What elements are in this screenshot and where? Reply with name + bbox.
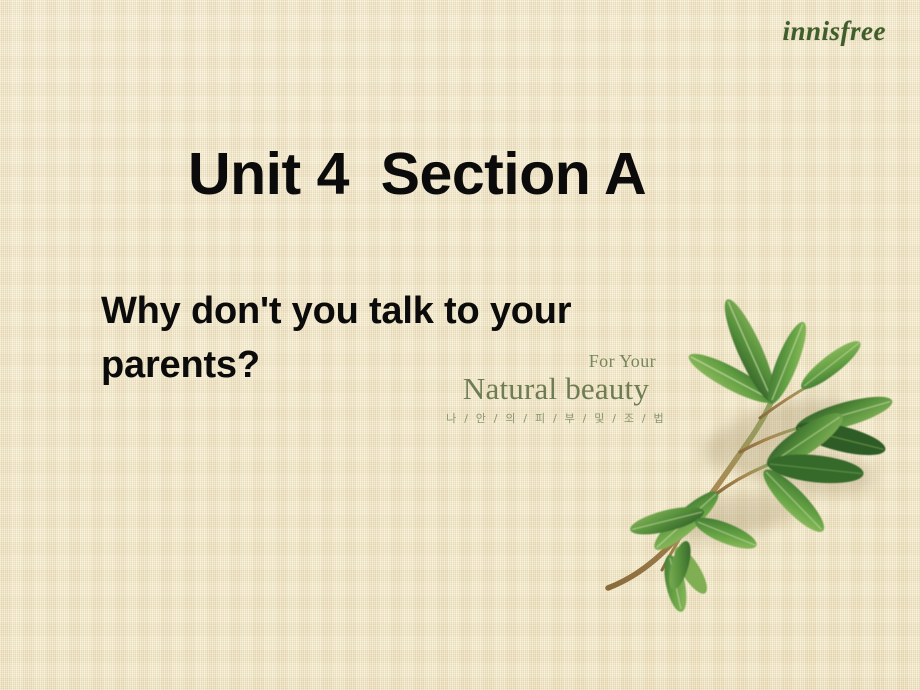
presentation-slide: innisfree Unit 4 Section A Why don't you… bbox=[0, 0, 920, 690]
tagline-small-text: For Your bbox=[430, 352, 682, 370]
tagline-korean-text: 나 / 안 / 의 / 피 / 부 / 및 / 조 / 법 bbox=[430, 410, 682, 426]
innisfree-logo: innisfree bbox=[782, 16, 886, 47]
page-title: Unit 4 Section A bbox=[188, 144, 646, 206]
brand-tagline: For Your Natural beauty 나 / 안 / 의 / 피 / … bbox=[430, 352, 682, 426]
tagline-large-text: Natural beauty bbox=[430, 372, 682, 407]
